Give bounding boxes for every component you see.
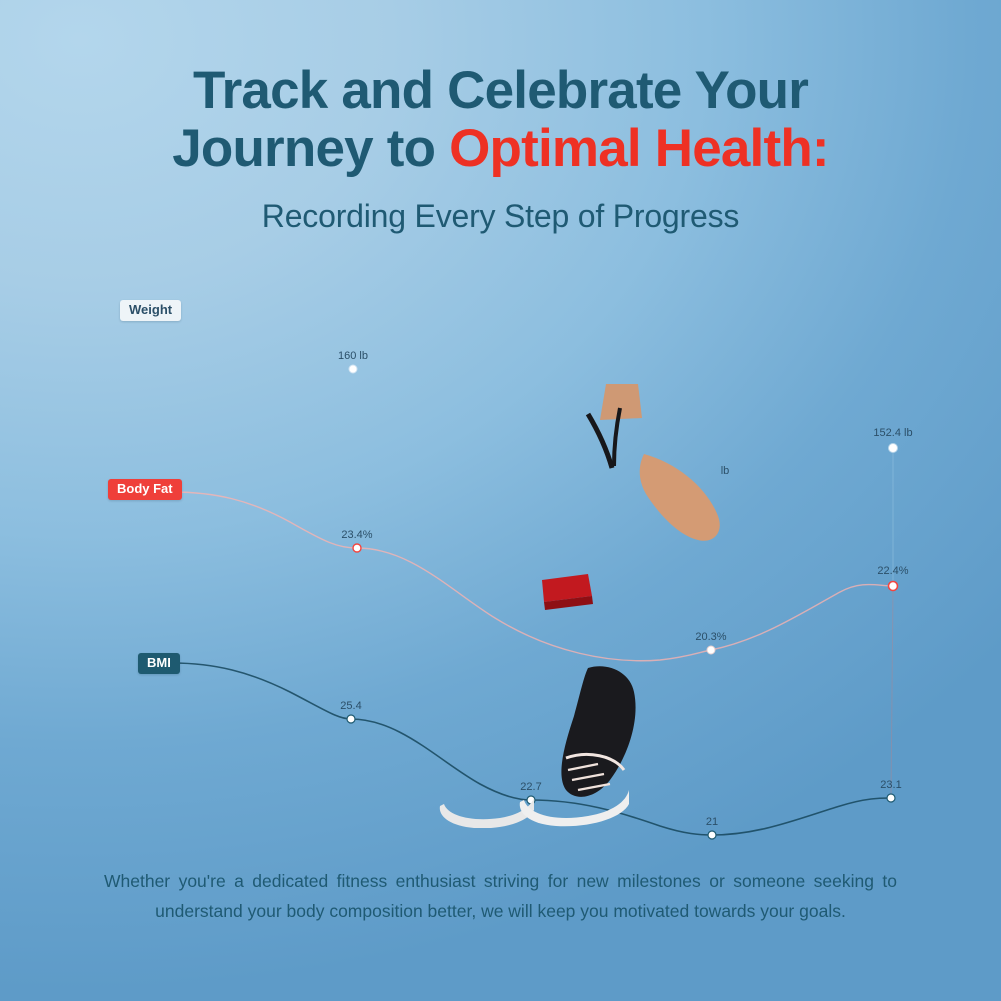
bmi-datapoint-dot[interactable]: [708, 831, 716, 839]
bmi-datapoint-dot[interactable]: [887, 794, 895, 802]
headline-subtitle: Recording Every Step of Progress: [0, 197, 1001, 235]
body-fat-datapoint-dot[interactable]: [353, 544, 361, 552]
headline-block: Track and Celebrate Your Journey to Opti…: [0, 62, 1001, 235]
weight-datapoint-2[interactable]: 152.4 lb: [873, 427, 912, 453]
headline-line-1: Track and Celebrate Your: [0, 62, 1001, 120]
body-fat-datapoint-dot[interactable]: [707, 646, 715, 654]
poster-canvas: 160 lb lb 152.4 lb 23.4% 20.3% 22.4%: [0, 0, 1001, 1001]
footer-paragraph: Whether you're a dedicated fitness enthu…: [104, 866, 897, 926]
body-fat-datapoint-dot[interactable]: [889, 582, 898, 591]
body-fat-datapoint-label: 23.4%: [341, 529, 372, 541]
legend-badge-bmi-label: BMI: [147, 655, 171, 670]
bmi-datapoint-dot[interactable]: [527, 796, 535, 804]
headline-line-2-prefix: Journey to: [172, 119, 449, 178]
legend-badge-body-fat-label: Body Fat: [117, 481, 173, 496]
legend-badge-body-fat[interactable]: Body Fat: [108, 479, 182, 500]
legend-badge-bmi[interactable]: BMI: [138, 653, 180, 674]
body-fat-datapoint-label: 22.4%: [877, 565, 908, 577]
bmi-datapoint-2[interactable]: 21: [706, 816, 718, 839]
weight-datapoint-label: lb: [721, 465, 730, 477]
bmi-datapoint-label: 23.1: [880, 779, 901, 791]
legend-badge-weight[interactable]: Weight: [120, 300, 181, 321]
weight-datapoint-dot[interactable]: [889, 444, 898, 453]
bmi-datapoint-label: 22.7: [520, 781, 541, 793]
headline-line-2: Journey to Optimal Health:: [0, 120, 1001, 178]
weight-datapoint-label: 152.4 lb: [873, 427, 912, 439]
weight-datapoint-dot[interactable]: [349, 365, 357, 373]
body-fat-datapoint-label: 20.3%: [695, 631, 726, 643]
weight-datapoint-label: 160 lb: [338, 350, 368, 362]
bmi-datapoint-label: 21: [706, 816, 718, 828]
legend-badge-weight-label: Weight: [129, 302, 172, 317]
bmi-datapoint-label: 25.4: [340, 700, 361, 712]
headline-accent-text: Optimal Health:: [449, 119, 829, 178]
bmi-datapoint-dot[interactable]: [347, 715, 355, 723]
weight-datapoint-1[interactable]: lb: [721, 465, 730, 477]
